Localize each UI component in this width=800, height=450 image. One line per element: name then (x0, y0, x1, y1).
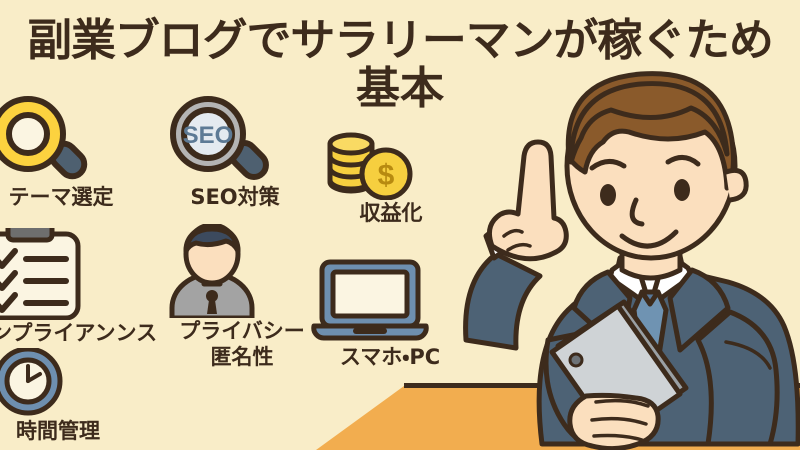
icon-caption-monetize: 収益化 (306, 201, 476, 225)
page-title: 副業ブログでサラリーマンが稼ぐため 基本 (0, 16, 800, 114)
laptop-icon (300, 254, 480, 344)
infographic-canvas: 副業ブログでサラリーマンが稼ぐため 基本 テーマ選定 (0, 0, 800, 450)
icon-caption-seo: SEO対策 (150, 185, 320, 209)
icon-caption-device: スマホ・PC (300, 345, 480, 369)
coin-stack-icon: $ (306, 128, 476, 200)
clock-icon (0, 348, 138, 418)
icon-caption-time: 時間管理 (0, 419, 138, 443)
icon-caption-compliance: コンプライアンンス (0, 321, 150, 345)
icon-item-compliance: コンプライアンンス (0, 228, 150, 345)
page-title-line2: 基本 (0, 64, 800, 114)
clipboard-checklist-icon (0, 228, 150, 320)
seo-badge-label: SEO (183, 122, 234, 149)
dollar-badge-label: $ (378, 159, 395, 192)
icon-caption-theme: テーマ選定 (0, 185, 146, 209)
icon-item-time: 時間管理 (0, 348, 138, 443)
page-title-line1: 副業ブログでサラリーマンが稼ぐため (0, 16, 800, 66)
icon-item-device: スマホ・PC (300, 254, 480, 369)
icon-item-monetize: $ 収益化 (306, 128, 476, 225)
